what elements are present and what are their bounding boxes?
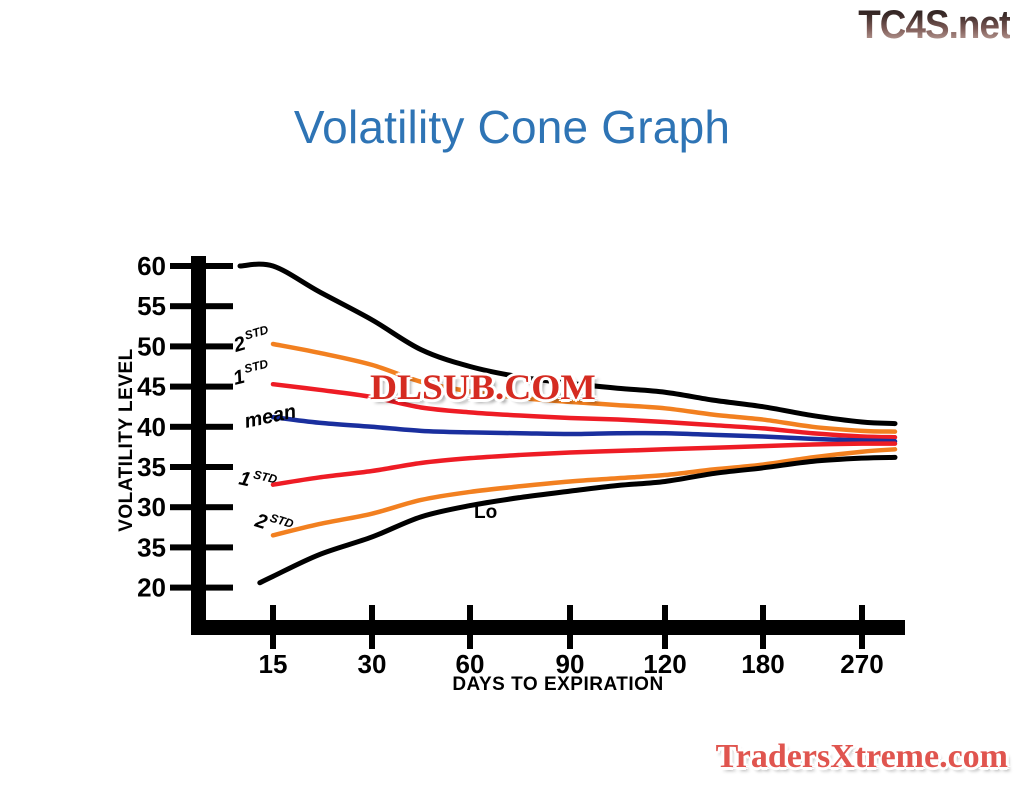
dlsub-watermark: DLSUB.COM <box>370 366 596 408</box>
y-tick-label: 30 <box>137 492 166 522</box>
series-annotation-superscript: STD <box>243 322 270 342</box>
y-tick-label: 35 <box>137 532 166 562</box>
series-annotation-superscript: STD <box>252 467 279 486</box>
series-annotation-text: 2 <box>252 509 270 534</box>
series-annotation: 1STD <box>237 465 279 498</box>
x-axis-title: DAYS TO EXPIRATION <box>452 674 663 695</box>
x-tick-label: 180 <box>741 649 784 679</box>
series-annotation: 2STD <box>230 322 274 357</box>
series-line-mean <box>273 417 895 441</box>
series-annotation: 1STD <box>230 357 272 390</box>
series-annotation: Lo <box>474 502 497 523</box>
y-tick-label: 60 <box>137 251 166 281</box>
series-annotation-text: mean <box>242 401 298 433</box>
y-tick-label: 35 <box>137 452 166 482</box>
y-axis-bar <box>191 256 206 635</box>
series-line-minimum <box>260 457 895 582</box>
y-axis-tick-labels: 605550454035303520 <box>137 251 166 603</box>
tradersxtreme-brand-logo: TradersXtreme.com <box>716 737 1008 777</box>
x-axis-bar <box>191 620 905 635</box>
y-axis-title: VOLATILITY LEVEL <box>116 348 137 532</box>
y-tick-label: 55 <box>137 291 166 321</box>
series-annotation-text: 1 <box>237 467 253 491</box>
y-tick-label: 20 <box>137 573 166 603</box>
x-tick-label: 270 <box>840 649 883 679</box>
chart-series-group <box>240 264 895 583</box>
series-annotation-text: Lo <box>474 502 497 523</box>
series-annotation-superscript: STD <box>243 357 270 376</box>
y-tick-label: 40 <box>137 412 166 442</box>
x-tick-label: 15 <box>259 649 288 679</box>
y-tick-label: 50 <box>137 331 166 361</box>
y-tick-label: 45 <box>137 372 166 402</box>
series-annotation: mean <box>242 401 298 433</box>
series-annotation-superscript: STD <box>268 511 295 532</box>
x-tick-label: 30 <box>358 649 387 679</box>
